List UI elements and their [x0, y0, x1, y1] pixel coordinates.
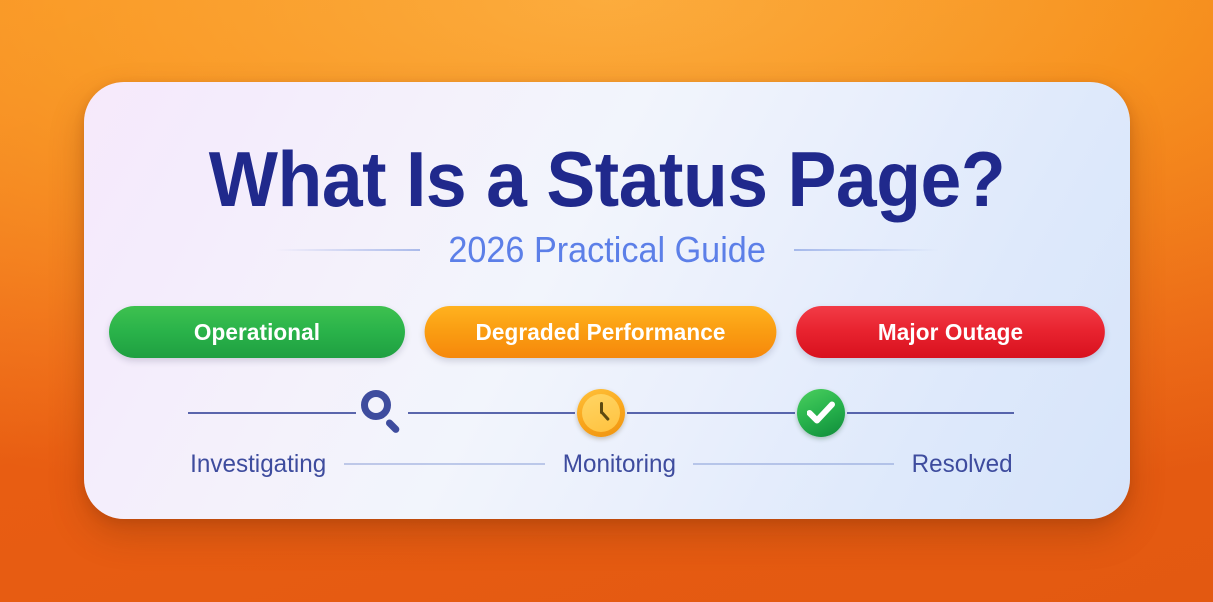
status-pill-row: Operational Degraded Performance Major O…	[84, 306, 1130, 358]
timeline-segment-1	[408, 412, 576, 414]
timeline-label-investigating: Investigating	[190, 450, 326, 479]
check-circle-icon	[797, 389, 845, 437]
magnifier-icon	[359, 390, 405, 436]
page-subtitle: 2026 Practical Guide	[448, 230, 765, 270]
incident-timeline: Investigating Monitoring Resolved	[84, 382, 1130, 502]
timeline-segment-start	[188, 412, 356, 414]
subtitle-rule-left	[275, 249, 420, 251]
banner-card: What Is a Status Page? 2026 Practical Gu…	[84, 82, 1130, 519]
status-badge-operational[interactable]: Operational	[109, 306, 405, 358]
timeline-node-monitoring[interactable]	[575, 387, 627, 439]
clock-icon	[577, 389, 625, 437]
timeline-node-investigating[interactable]	[356, 387, 408, 439]
timeline-segment-end	[847, 412, 1015, 414]
page-title: What Is a Status Page?	[115, 138, 1098, 220]
timeline-icon-track	[188, 382, 1014, 444]
timeline-segment-2	[627, 412, 795, 414]
timeline-label-track: Investigating Monitoring Resolved	[188, 444, 1014, 484]
timeline-label-connector-2	[693, 463, 893, 465]
subtitle-rule-right	[794, 249, 939, 251]
timeline-label-resolved: Resolved	[911, 450, 1012, 479]
timeline-label-connector-1	[344, 463, 544, 465]
subtitle-row: 2026 Practical Guide	[84, 230, 1130, 270]
status-page-banner: What Is a Status Page? 2026 Practical Gu…	[0, 0, 1213, 602]
status-badge-outage[interactable]: Major Outage	[796, 306, 1105, 358]
timeline-node-resolved[interactable]	[795, 387, 847, 439]
status-badge-degraded[interactable]: Degraded Performance	[425, 306, 777, 358]
timeline-label-monitoring: Monitoring	[562, 450, 675, 479]
